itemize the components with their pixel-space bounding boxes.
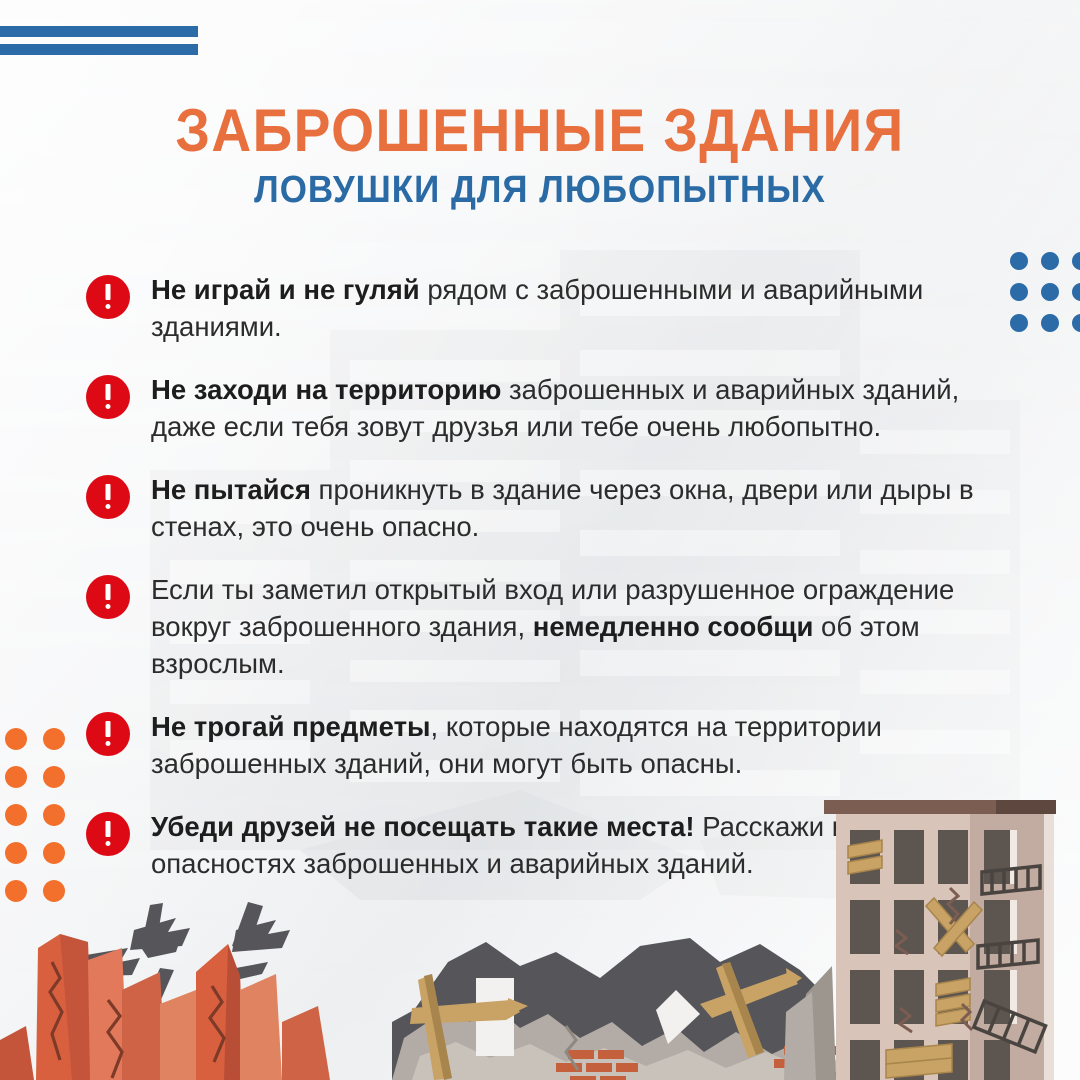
rule-emphasis: Не пытайся bbox=[151, 474, 311, 505]
left-ruin-illustration bbox=[0, 902, 330, 1080]
dot bbox=[43, 842, 65, 864]
rule-emphasis: Не играй и не гуляй bbox=[151, 274, 420, 305]
rule-emphasis: немедленно сообщи bbox=[533, 611, 814, 642]
exclamation-circle-icon bbox=[86, 712, 130, 756]
rule-emphasis: Убеди друзей не посещать такие места! bbox=[151, 811, 695, 842]
dot-grid-orange bbox=[5, 728, 69, 906]
title-main: ЗАБРОШЕННЫЕ ЗДАНИЯ bbox=[43, 100, 1037, 161]
safety-rule-item: Не заходи на территорию заброшенных и ав… bbox=[86, 372, 986, 445]
dot bbox=[1072, 252, 1080, 270]
safety-rule-text: Убеди друзей не посещать такие места! Ра… bbox=[151, 809, 986, 882]
dot bbox=[1010, 252, 1028, 270]
dot bbox=[1072, 314, 1080, 332]
exclamation-circle-icon bbox=[86, 275, 130, 319]
dot bbox=[5, 842, 27, 864]
dot bbox=[5, 880, 27, 902]
dot bbox=[5, 804, 27, 826]
exclamation-circle-icon bbox=[86, 375, 130, 419]
dot bbox=[5, 766, 27, 788]
dot bbox=[1010, 283, 1028, 301]
dot bbox=[1072, 283, 1080, 301]
decorative-bar-top bbox=[0, 26, 198, 37]
decorative-bar-bottom bbox=[0, 44, 198, 55]
dot-grid-blue bbox=[1010, 252, 1080, 336]
dot bbox=[1041, 283, 1059, 301]
exclamation-circle-icon bbox=[86, 575, 130, 619]
title-subtitle: ЛОВУШКИ ДЛЯ ЛЮБОПЫТНЫХ bbox=[43, 171, 1037, 211]
safety-rule-text: Не пытайся проникнуть в здание через окн… bbox=[151, 472, 986, 545]
safety-rules-list: Не играй и не гуляй рядом с заброшенными… bbox=[86, 272, 986, 909]
header-decorative-bars bbox=[0, 26, 198, 62]
page-title: ЗАБРОШЕННЫЕ ЗДАНИЯ ЛОВУШКИ ДЛЯ ЛЮБОПЫТНЫ… bbox=[0, 100, 1080, 211]
safety-rule-item: Не играй и не гуляй рядом с заброшенными… bbox=[86, 272, 986, 345]
safety-rule-item: Не трогай предметы, которые находятся на… bbox=[86, 709, 986, 782]
rule-emphasis: Не заходи на территорию bbox=[151, 374, 501, 405]
dot bbox=[43, 804, 65, 826]
safety-rule-text: Не заходи на территорию заброшенных и ав… bbox=[151, 372, 986, 445]
dot bbox=[5, 728, 27, 750]
safety-rule-item: Не пытайся проникнуть в здание через окн… bbox=[86, 472, 986, 545]
dot bbox=[1041, 314, 1059, 332]
exclamation-circle-icon bbox=[86, 812, 130, 856]
center-rubble-illustration bbox=[392, 938, 836, 1080]
dot bbox=[1041, 252, 1059, 270]
safety-rule-text: Если ты заметил открытый вход или разруш… bbox=[151, 572, 986, 682]
exclamation-circle-icon bbox=[86, 475, 130, 519]
safety-rule-text: Не играй и не гуляй рядом с заброшенными… bbox=[151, 272, 986, 345]
safety-rule-item: Убеди друзей не посещать такие места! Ра… bbox=[86, 809, 986, 882]
safety-rule-text: Не трогай предметы, которые находятся на… bbox=[151, 709, 986, 782]
rule-emphasis: Не трогай предметы bbox=[151, 711, 431, 742]
dot bbox=[43, 728, 65, 750]
dot bbox=[43, 766, 65, 788]
dot bbox=[43, 880, 65, 902]
dot bbox=[1010, 314, 1028, 332]
safety-rule-item: Если ты заметил открытый вход или разруш… bbox=[86, 572, 986, 682]
poster: ЗАБРОШЕННЫЕ ЗДАНИЯ ЛОВУШКИ ДЛЯ ЛЮБОПЫТНЫ… bbox=[0, 0, 1080, 1080]
